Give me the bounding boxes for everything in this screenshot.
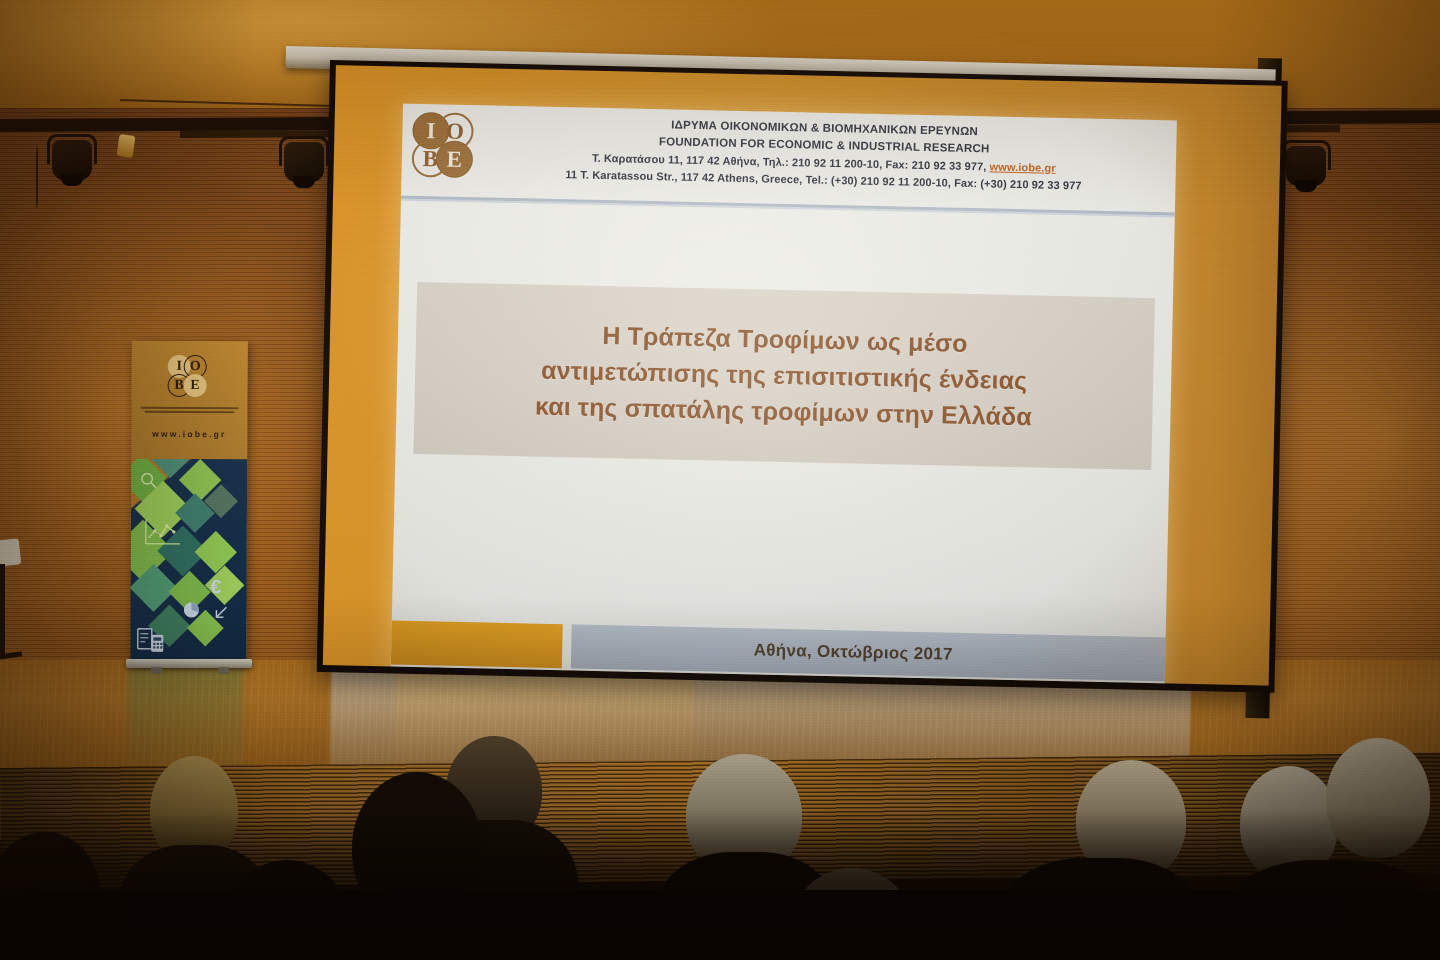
- footer-blue-bar: Αθήνα, Οκτώβριος 2017: [571, 624, 1166, 681]
- slide-title-box: Η Τράπεζα Τροφίμων ως μέσο αντιμετώπισης…: [413, 282, 1155, 470]
- projected-slide: I O B E ΙΔΡΥΜΑ ΟΙΚΟΝΟΜΙΚΩΝ & ΒΙΟΜΗΧΑΝΙΚΩ…: [391, 104, 1177, 686]
- slide-title: Η Τράπεζα Τροφίμων ως μέσο αντιμετώπισης…: [535, 316, 1034, 436]
- projection-screen-assembly: I O B E ΙΔΡΥΜΑ ΟΙΚΟΝΟΜΙΚΩΝ & ΒΙΟΜΗΧΑΝΙΚΩ…: [0, 0, 1440, 760]
- slide-date: Αθήνα, Οκτώβριος 2017: [753, 640, 952, 664]
- audience-foreground-dark: [0, 890, 1440, 960]
- projection-screen-frame: I O B E ΙΔΡΥΜΑ ΟΙΚΟΝΟΜΙΚΩΝ & ΒΙΟΜΗΧΑΝΙΚΩ…: [317, 60, 1288, 693]
- website-link[interactable]: www.iobe.gr: [989, 161, 1055, 174]
- footer-gold-block: [391, 620, 563, 668]
- audience-seating: [0, 720, 1440, 960]
- slide-header-text: ΙΔΡΥΜΑ ΟΙΚΟΝΟΜΙΚΩΝ & ΒΙΟΜΗΧΑΝΙΚΩΝ ΕΡΕΥΝΩ…: [487, 113, 1160, 196]
- iobe-logo-icon: I O B E: [411, 110, 483, 190]
- logo-letter-e: E: [435, 140, 473, 178]
- projection-screen-surface: I O B E ΙΔΡΥΜΑ ΟΙΚΟΝΟΜΙΚΩΝ & ΒΙΟΜΗΧΑΝΙΚΩ…: [323, 65, 1282, 685]
- slide-header: I O B E ΙΔΡΥΜΑ ΟΙΚΟΝΟΜΙΚΩΝ & ΒΙΟΜΗΧΑΝΙΚΩ…: [401, 104, 1177, 209]
- auditorium-scene: I O B E www.iobe.gr: [0, 0, 1440, 960]
